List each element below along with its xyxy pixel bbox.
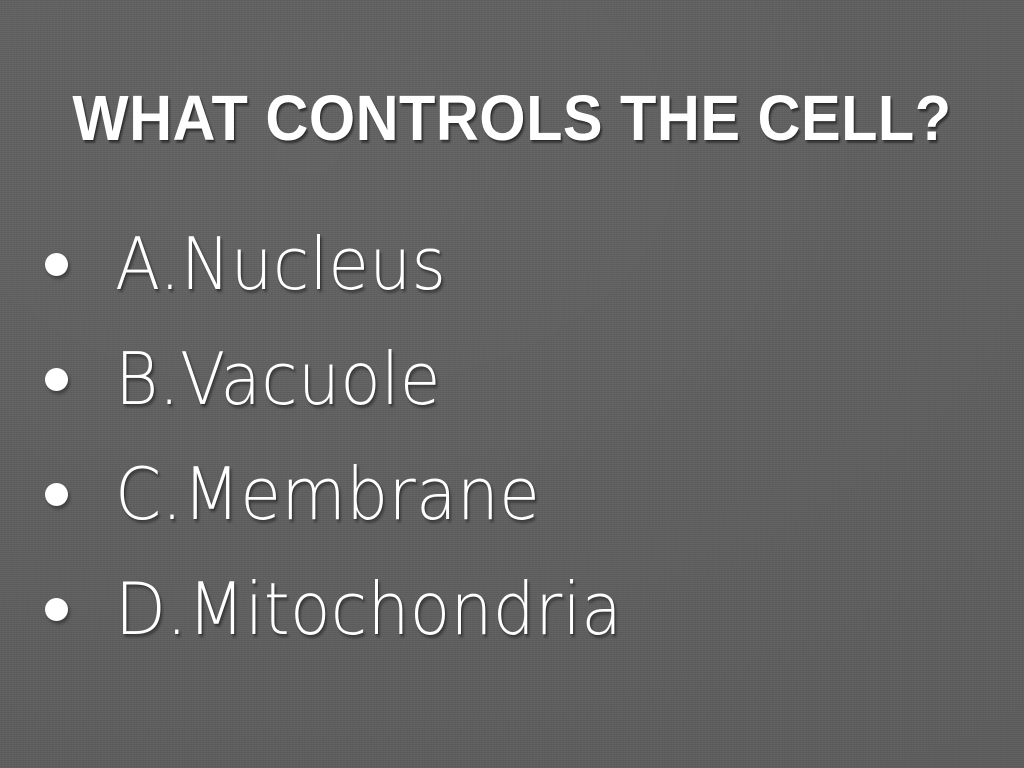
filled-circle-bullet-icon	[45, 598, 68, 621]
list-item-label: D.Mitochondria	[115, 570, 622, 648]
list-item-label: B.Vacuole	[115, 340, 441, 418]
filled-circle-bullet-icon	[45, 483, 68, 506]
list-item[interactable]: C.Membrane	[42, 436, 992, 551]
list-item-label: C.Membrane	[115, 455, 540, 533]
list-item[interactable]: B.Vacuole	[42, 321, 992, 436]
presentation-slide: WHAT CONTROLS THE CELL? A.Nucleus B.Vacu…	[0, 0, 1024, 768]
filled-circle-bullet-icon	[45, 253, 68, 276]
answer-options-list: A.Nucleus B.Vacuole C.Membrane D.Mitocho…	[42, 206, 992, 666]
list-item[interactable]: A.Nucleus	[42, 206, 992, 321]
list-item[interactable]: D.Mitochondria	[42, 551, 992, 666]
list-item-label: A.Nucleus	[115, 225, 446, 303]
page-title: WHAT CONTROLS THE CELL?	[36, 84, 988, 152]
filled-circle-bullet-icon	[45, 368, 68, 391]
